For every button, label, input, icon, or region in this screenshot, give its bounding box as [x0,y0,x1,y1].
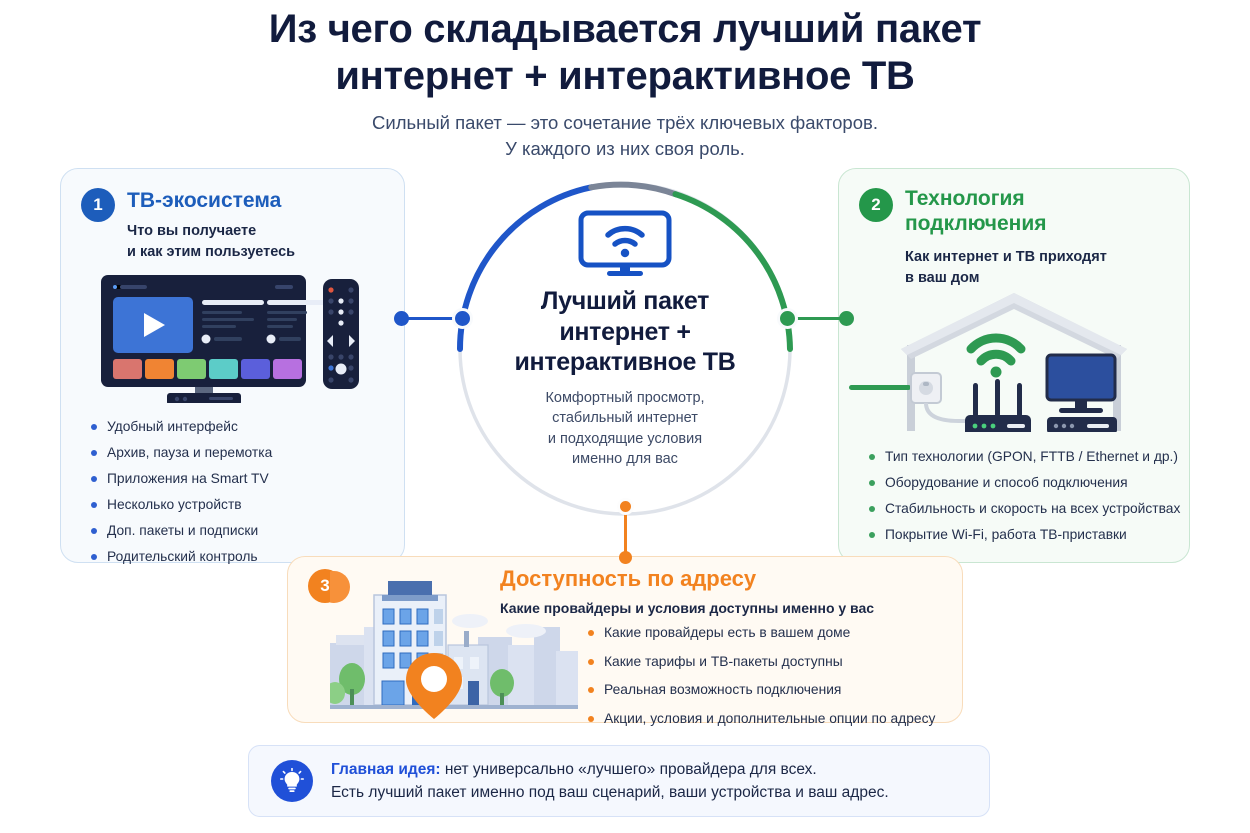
connector-dot-hub-bottom [617,498,634,515]
key-idea-banner: Главная идея: нет универсально «лучшего»… [248,745,990,817]
connector-dot-card1 [394,311,409,326]
center-hub: Лучший пакет интернет + интерактивное ТВ… [454,178,796,520]
key-idea-line2: Есть лучший пакет именно под ваш сценари… [331,781,889,804]
list-item: Реальная возможность подключения [586,682,935,699]
house-router-tv-illustration [849,287,1179,432]
list-item: Покрытие Wi-Fi, работа ТВ-приставки [867,527,1180,544]
page-title-line2: интернет + интерактивное ТВ [0,53,1250,100]
list-item: Какие провайдеры есть в вашем доме [586,625,935,642]
list-item: Несколько устройств [89,497,272,514]
list-item: Приложения на Smart TV [89,471,272,488]
connector-dot-hub-right [777,308,798,329]
lightbulb-icon [271,760,313,802]
hub-title: Лучший пакет интернет + интерактивное ТВ [514,286,735,378]
card-title-line1: Технология [905,187,1115,212]
hub-content: Лучший пакет интернет + интерактивное ТВ… [454,178,796,520]
key-idea-rest: нет универсально «лучшего» провайдера дл… [441,761,817,778]
card-subtitle-line2: в ваш дом [905,268,1107,289]
smart-tv-with-remote-illustration [99,273,369,403]
list-item: Оборудование и способ подключения [867,475,1180,492]
card-subtitle-tv-ecosystem: Что вы получаете и как этим пользуетесь [127,221,295,263]
city-buildings-map-pin-illustration [330,569,578,719]
hub-subtitle-line1: Комфортный просмотр, [545,388,704,409]
tv-wifi-icon [577,210,673,278]
hub-title-line2: интернет + [514,317,735,348]
page-title-line1: Из чего складывается лучший пакет [0,6,1250,53]
card-number-badge-2: 2 [859,188,893,222]
list-item: Архив, пауза и перемотка [89,445,272,462]
page-subtitle: Сильный пакет — это сочетание трёх ключе… [0,110,1250,163]
connector-dot-card2 [839,311,854,326]
list-item: Стабильность и скорость на всех устройст… [867,501,1180,518]
page-header: Из чего складывается лучший пакет интерн… [0,6,1250,162]
hub-subtitle-line4: именно для вас [545,449,704,470]
card-title-line2: подключения [905,212,1115,237]
bullet-list-connection-technology: Тип технологии (GPON, FTTB / Ethernet и … [867,449,1180,553]
list-item: Тип технологии (GPON, FTTB / Ethernet и … [867,449,1180,466]
card-title-connection-technology: Технология подключения [905,187,1115,237]
infographic-root: Из чего складывается лучший пакет интерн… [0,0,1250,833]
list-item: Удобный интерфейс [89,419,272,436]
hub-subtitle-line3: и подходящие условия [545,429,704,450]
page-subtitle-line1: Сильный пакет — это сочетание трёх ключе… [0,110,1250,136]
bullet-list-address-availability: Какие провайдеры есть в вашем доме Какие… [586,625,935,739]
card-subtitle-line1: Что вы получаете [127,221,295,242]
hub-title-line1: Лучший пакет [514,286,735,317]
key-idea-text: Главная идея: нет универсально «лучшего»… [331,758,889,805]
list-item: Акции, условия и дополнительные опции по… [586,711,935,728]
page-title: Из чего складывается лучший пакет интерн… [0,6,1250,100]
connector-dot-hub-left [452,308,473,329]
key-idea-line1: Главная идея: нет универсально «лучшего»… [331,758,889,781]
list-item: Какие тарифы и ТВ-пакеты доступны [586,654,935,671]
list-item: Родительский контроль [89,549,272,566]
hub-subtitle-line2: стабильный интернет [545,408,704,429]
card-title-tv-ecosystem: ТВ-экосистема [127,189,281,214]
card-address-availability[interactable]: 3 Доступность по адресу Какие провайдеры… [287,556,963,723]
bullet-list-tv-ecosystem: Удобный интерфейс Архив, пауза и перемот… [89,419,272,575]
card-subtitle-line2: и как этим пользуетесь [127,242,295,263]
hub-title-line3: интерактивное ТВ [514,347,735,378]
card-subtitle-line1: Как интернет и ТВ приходят [905,247,1107,268]
hub-subtitle: Комфортный просмотр, стабильный интернет… [545,388,704,470]
card-subtitle-connection-technology: Как интернет и ТВ приходят в ваш дом [905,247,1107,289]
page-subtitle-line2: У каждого из них своя роль. [0,136,1250,162]
list-item: Доп. пакеты и подписки [89,523,272,540]
connector-dot-card3 [619,551,632,564]
card-connection-technology[interactable]: 2 Технология подключения Как интернет и … [838,168,1190,563]
card-tv-ecosystem[interactable]: 1 ТВ-экосистема Что вы получаете и как э… [60,168,405,563]
card-number-badge-1: 1 [81,188,115,222]
key-idea-lead: Главная идея: [331,761,441,778]
